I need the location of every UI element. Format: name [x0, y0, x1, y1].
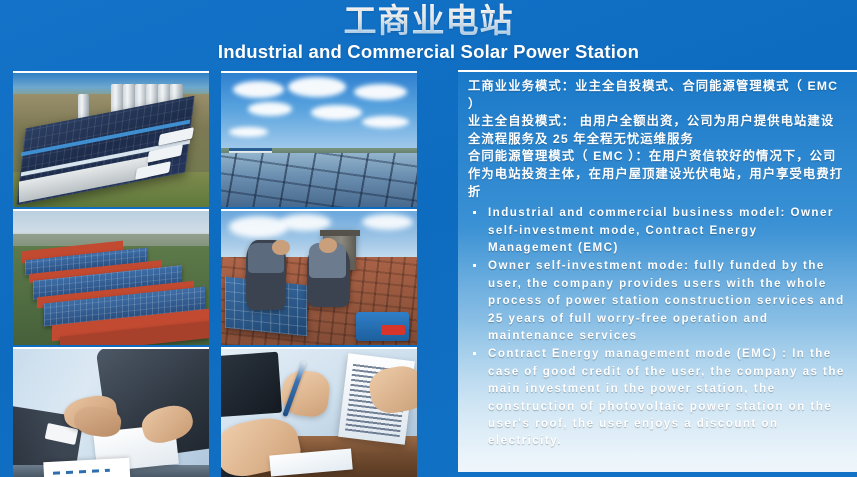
english-bullet-list: Industrial and commercial business model…: [468, 204, 847, 450]
cn-paragraph: 工商业业务模式：业主全自投模式、合同能源管理模式（ EMC ）: [468, 78, 847, 113]
photo-aerial-industrial-plant-solar-roof: [13, 71, 209, 207]
cn-paragraph: 合同能源管理模式（ EMC ）：在用户资信较好的情况下，公司作为电站投资主体，在…: [468, 148, 847, 201]
photo-scene: [13, 211, 209, 345]
slide-header: 工商业电站 Industrial and Commercial Solar Po…: [0, 0, 857, 68]
cloud-shape: [311, 105, 362, 120]
photo-business-handshake: [13, 347, 209, 477]
list-item: Contract Energy management mode (EMC) : …: [468, 345, 847, 449]
photo-red-roof-factories-solar: [13, 209, 209, 345]
photo-scene: [221, 73, 417, 207]
chinese-text-block: 工商业业务模式：业主全自投模式、合同能源管理模式（ EMC ） 业主全自投模式：…: [468, 78, 847, 201]
page-title-cn: 工商业电站: [0, 0, 857, 39]
laptop-icon: [221, 352, 282, 417]
solar-array: [221, 153, 417, 207]
photo-scene: [13, 349, 209, 477]
photo-scene: [221, 211, 417, 345]
photo-scene: [221, 349, 417, 477]
slide-root: 工商业电站 Industrial and Commercial Solar Po…: [0, 0, 857, 477]
photo-scene: [13, 73, 209, 207]
cloud-shape: [229, 216, 288, 237]
page-title-en: Industrial and Commercial Solar Power St…: [0, 41, 857, 63]
cn-paragraph: 业主全自投模式： 由用户全额出资，公司为用户提供电站建设全流程服务及 25 年全…: [468, 113, 847, 148]
photo-contract-signing: [221, 347, 417, 477]
photo-rooftop-solar-array-sky: [221, 71, 417, 207]
worker-head: [272, 240, 290, 255]
cloud-shape: [354, 84, 407, 100]
list-item: Industrial and commercial business model…: [468, 204, 847, 256]
cloud-shape: [362, 116, 409, 128]
list-item: Owner self-investment mode: fully funded…: [468, 257, 847, 344]
cloud-shape: [248, 102, 291, 115]
text-panel: 工商业业务模式：业主全自投模式、合同能源管理模式（ EMC ） 业主全自投模式：…: [458, 70, 857, 472]
tool-bin: [356, 312, 409, 341]
chart-document: [44, 458, 132, 477]
photo-workers-installing-roof-panel: [221, 209, 417, 345]
cloud-shape: [362, 214, 413, 230]
worker-head: [319, 238, 337, 253]
cloud-shape: [280, 214, 331, 231]
photo-grid: [13, 71, 417, 477]
